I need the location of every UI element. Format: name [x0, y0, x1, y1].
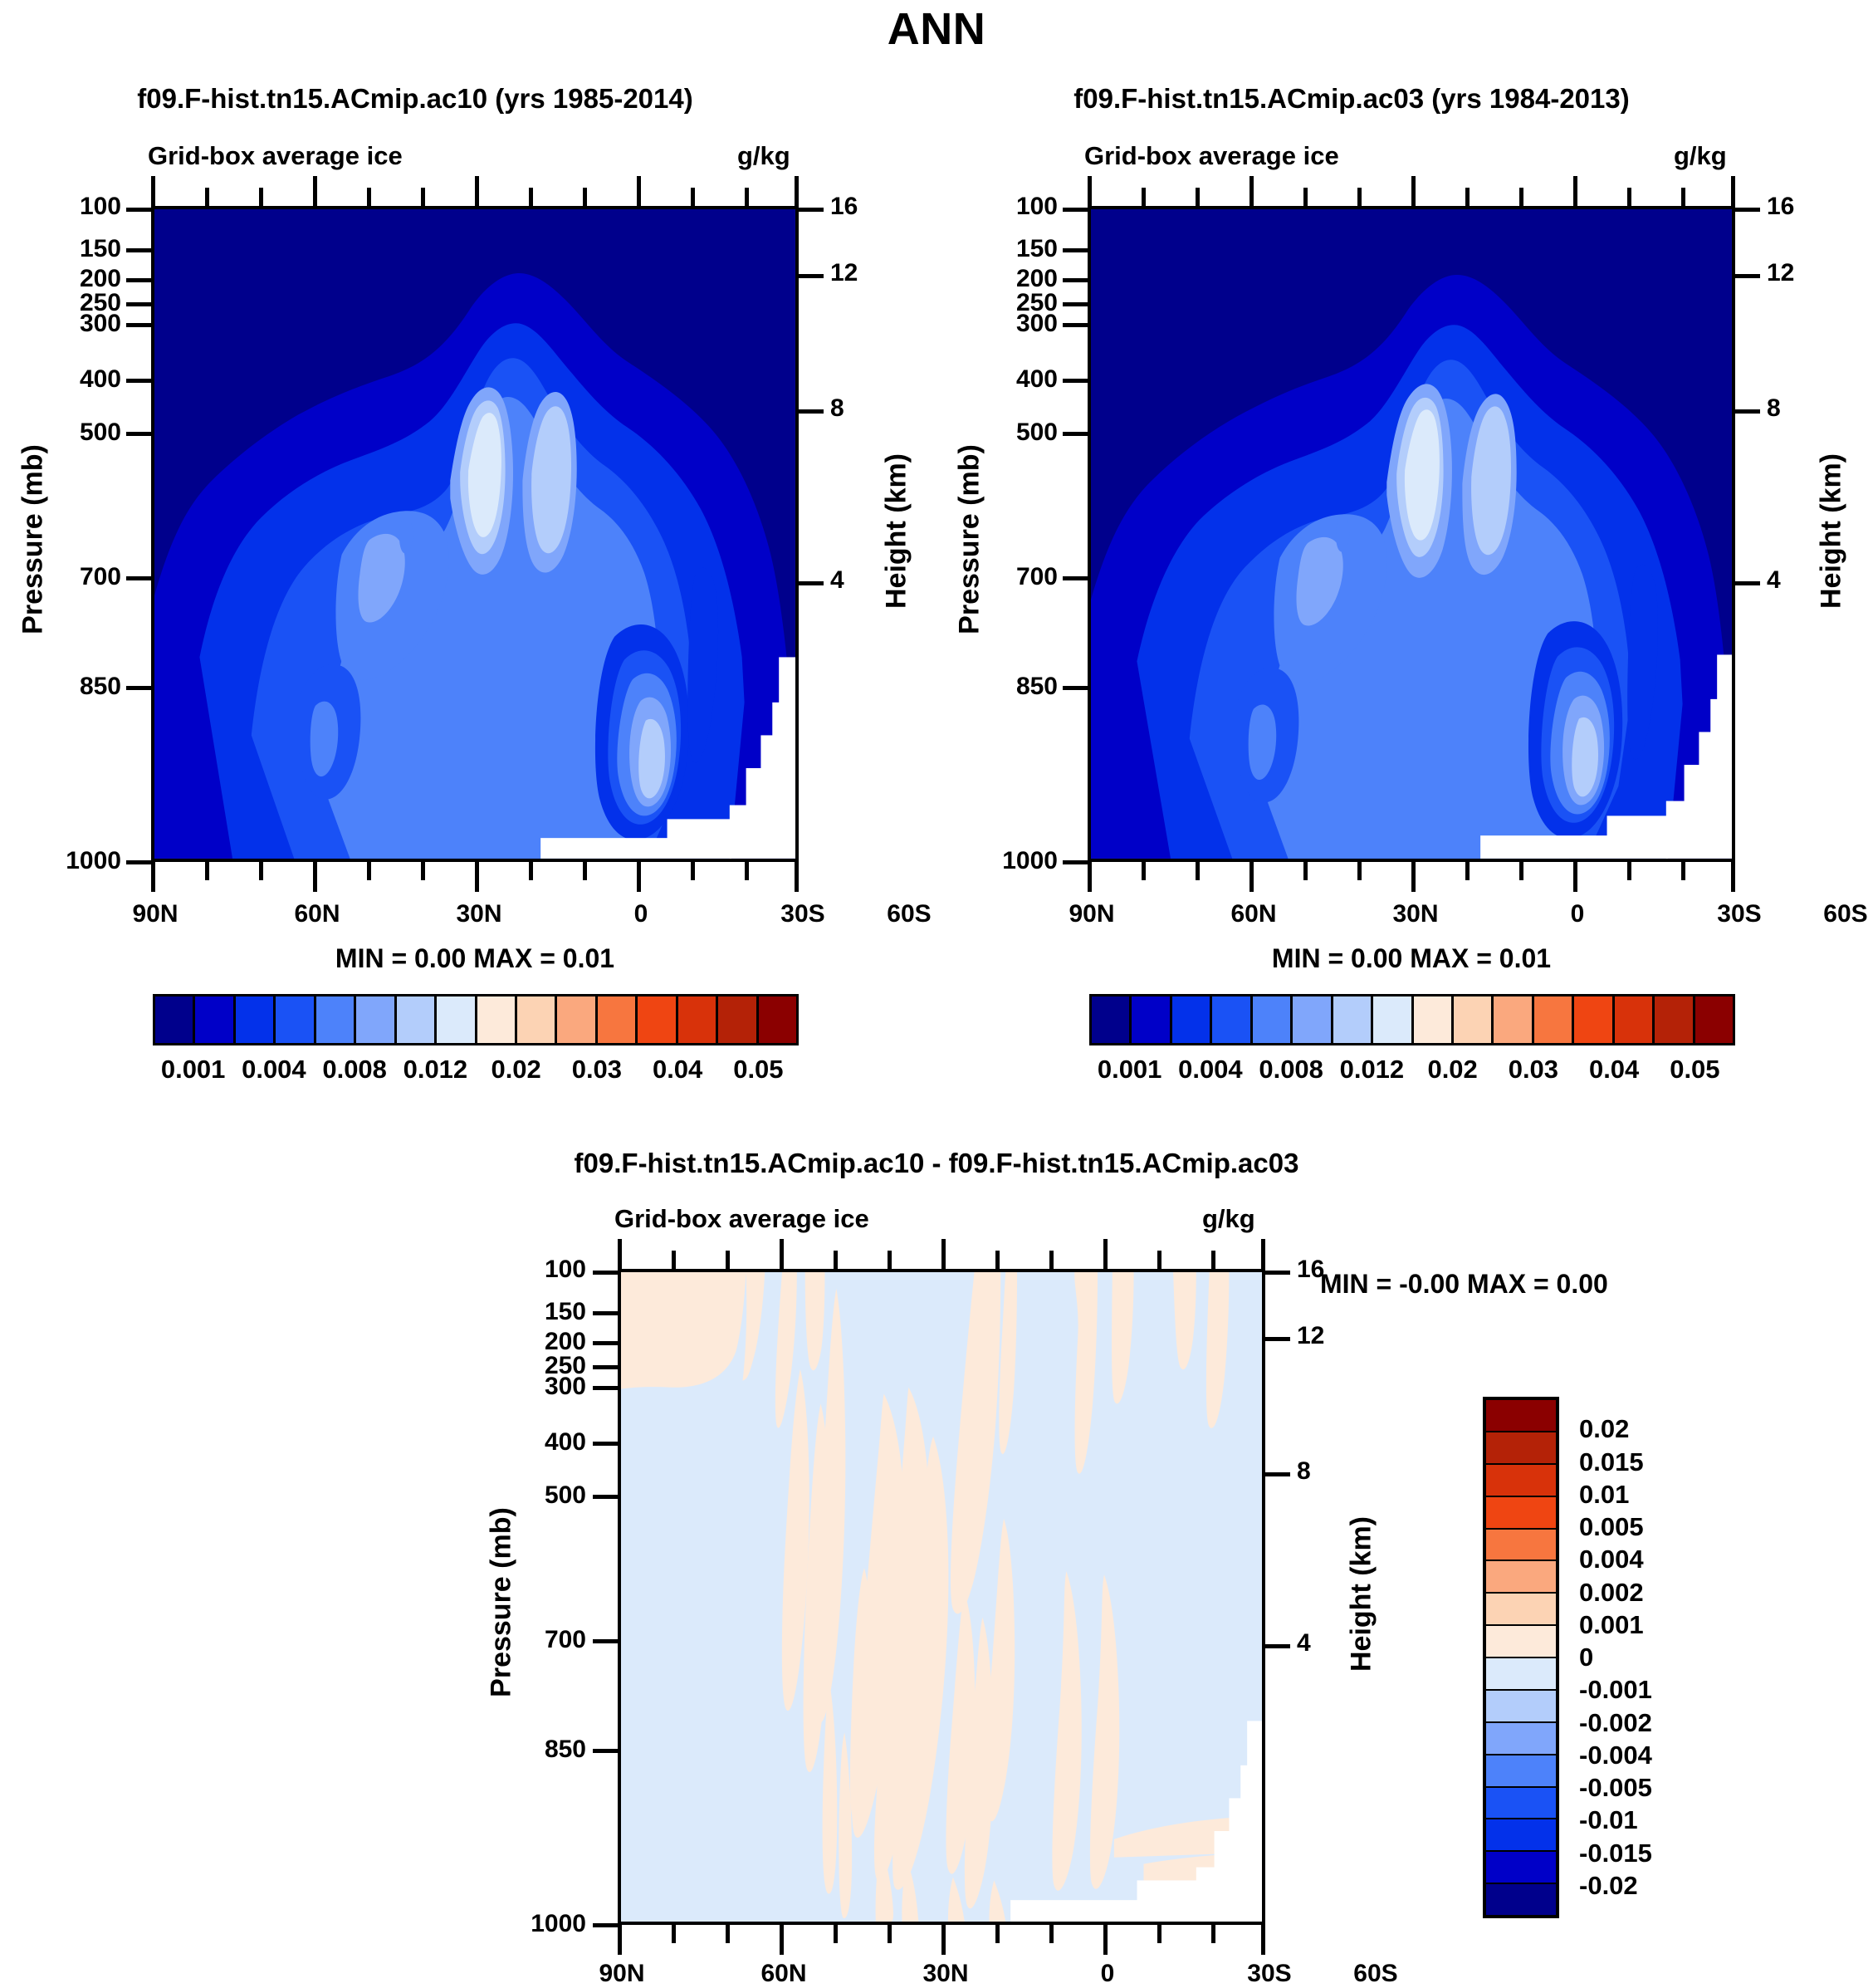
pressure-tick-label: 400	[465, 1428, 586, 1457]
colorbar-cell	[1486, 1884, 1556, 1915]
colorbar-cell	[1534, 996, 1574, 1043]
colorbar-cell	[718, 996, 758, 1043]
colorbar-cell	[1486, 1852, 1556, 1884]
lat-tick-label: 60S	[1322, 1960, 1430, 1988]
pressure-tick-label: 1000	[465, 1910, 586, 1938]
colorbar-tick-label: -0.002	[1579, 1708, 1652, 1738]
plot-area-difference[interactable]	[618, 1269, 1265, 1925]
lat-tick-label: 30N	[425, 900, 533, 928]
colorbar-tick-label: -0.02	[1579, 1871, 1638, 1901]
colorbar-cell	[1454, 996, 1494, 1043]
colorbar-tick-label: 0.01	[1579, 1480, 1629, 1510]
colorbar-cell	[1486, 1723, 1556, 1755]
colorbar-cell	[236, 996, 276, 1043]
colorbar-tick-label: 0.008	[1259, 1055, 1323, 1085]
panel-title-difference: f09.F-hist.tn15.ACmip.ac10 - f09.F-hist.…	[0, 1148, 1873, 1179]
panel-subtitle-top-left: Grid-box average ice	[148, 141, 403, 171]
pressure-tick-label: 300	[936, 310, 1058, 338]
panel-units-top-right: g/kg	[1674, 141, 1727, 171]
colorbar-cell	[1212, 996, 1252, 1043]
colorbar-tick-label: 0.002	[1579, 1578, 1644, 1608]
colorbar-cell	[1615, 996, 1655, 1043]
lat-tick-label: 60N	[1200, 900, 1308, 928]
colorbar-cell	[1486, 1400, 1556, 1432]
colorbar-labels-difference: 0.020.0150.010.0050.0040.0020.0010-0.001…	[1579, 1397, 1770, 1918]
colorbar-cell	[759, 996, 796, 1043]
colorbar-tick-label: 0.04	[1589, 1055, 1639, 1085]
colorbar-cell	[1486, 1691, 1556, 1723]
colorbar-tick-label: 0.012	[1340, 1055, 1405, 1085]
pressure-tick-label: 850	[0, 673, 121, 701]
contour-plot-difference	[621, 1272, 1262, 1922]
colorbar-tick-label: 0.015	[1579, 1447, 1644, 1477]
pressure-tick-label: 100	[465, 1256, 586, 1284]
colorbar-tick-label: 0.004	[1579, 1545, 1644, 1574]
colorbar-tick-label: 0.012	[403, 1055, 468, 1085]
colorbar-cell	[1333, 996, 1373, 1043]
colorbar-tick-label: 0.04	[653, 1055, 702, 1085]
colorbar-tick-label: 0.001	[1579, 1610, 1644, 1640]
lat-tick-label: 90N	[101, 900, 209, 928]
colorbar-cell	[1092, 996, 1132, 1043]
colorbar-tick-label: 0.001	[161, 1055, 226, 1085]
lat-tick-label: 90N	[568, 1960, 676, 1988]
contour-plot-top-right	[1091, 209, 1732, 859]
pressure-tick-label: 150	[465, 1298, 586, 1326]
panel-units-difference: g/kg	[1202, 1204, 1255, 1234]
height-tick-label: 16	[830, 193, 897, 221]
colorbar-tick-label: 0.02	[1579, 1414, 1629, 1444]
colorbar-cell	[356, 996, 396, 1043]
colorbar-cell	[1486, 1658, 1556, 1691]
colorbar-cell	[517, 996, 557, 1043]
colorbar-tick-label: 0.05	[733, 1055, 783, 1085]
colorbar-tick-label: 0.02	[1427, 1055, 1477, 1085]
pressure-tick-label: 700	[465, 1626, 586, 1654]
colorbar-tick-label: 0.008	[322, 1055, 387, 1085]
pressure-tick-label: 150	[0, 235, 121, 263]
pressure-tick-label: 400	[936, 365, 1058, 394]
colorbar-difference[interactable]	[1483, 1397, 1559, 1918]
colorbar-cell	[598, 996, 638, 1043]
colorbar-tick-label: -0.001	[1579, 1675, 1652, 1705]
colorbar-cell	[1373, 996, 1413, 1043]
minmax-top-right: MIN = 0.00 MAX = 0.01	[1088, 943, 1735, 974]
panel-top-left: f09.F-hist.tn15.ACmip.ac10 (yrs 1985-201…	[0, 0, 936, 1104]
panel-top-right: f09.F-hist.tn15.ACmip.ac03 (yrs 1984-201…	[936, 0, 1873, 1104]
colorbar-top-left[interactable]	[153, 994, 799, 1045]
colorbar-tick-label: 0.03	[572, 1055, 622, 1085]
colorbar-tick-label: 0.001	[1098, 1055, 1162, 1085]
colorbar-cell	[397, 996, 437, 1043]
panel-subtitle-top-right: Grid-box average ice	[1084, 141, 1339, 171]
colorbar-cell	[1486, 1626, 1556, 1658]
colorbar-labels-top-right: 0.0010.0040.0080.0120.020.030.040.05	[1089, 1055, 1735, 1088]
lat-tick-label: 30S	[1685, 900, 1793, 928]
lat-tick-label: 90N	[1038, 900, 1146, 928]
panel-units-top-left: g/kg	[737, 141, 790, 171]
pressure-tick-label: 150	[936, 235, 1058, 263]
lat-tick-label: 30N	[1362, 900, 1470, 928]
colorbar-cell	[1293, 996, 1333, 1043]
lat-tick-label: 30S	[749, 900, 857, 928]
height-tick-label: 12	[830, 259, 897, 287]
colorbar-cell	[638, 996, 677, 1043]
axis-title-pressure-left: Pressure (mb)	[17, 440, 50, 639]
colorbar-cell	[316, 996, 356, 1043]
pressure-tick-label: 400	[0, 365, 121, 394]
height-tick-label: 8	[830, 394, 897, 423]
colorbar-cell	[276, 996, 315, 1043]
lat-tick-label: 0	[1054, 1960, 1161, 1988]
colorbar-cell	[1695, 996, 1733, 1043]
colorbar-cell	[155, 996, 195, 1043]
axis-title-height-right: Height (km)	[881, 432, 913, 631]
plot-area-top-right[interactable]	[1088, 206, 1735, 862]
colorbar-cell	[1574, 996, 1614, 1043]
colorbar-cell	[1655, 996, 1695, 1043]
lat-tick-label: 30N	[892, 1960, 1000, 1988]
axis-title-pressure-left: Pressure (mb)	[954, 440, 986, 639]
lat-tick-label: 0	[1523, 900, 1631, 928]
colorbar-cell	[195, 996, 235, 1043]
colorbar-cell	[1414, 996, 1454, 1043]
pressure-tick-label: 300	[465, 1373, 586, 1401]
panel-difference: f09.F-hist.tn15.ACmip.ac10 - f09.F-hist.…	[0, 1104, 1873, 1980]
colorbar-tick-label: 0.004	[1178, 1055, 1243, 1085]
contour-plot-top-left	[154, 209, 795, 859]
colorbar-labels-top-left: 0.0010.0040.0080.0120.020.030.040.05	[153, 1055, 799, 1088]
colorbar-tick-label: 0.02	[491, 1055, 540, 1085]
pressure-tick-label: 850	[465, 1736, 586, 1764]
colorbar-cell	[678, 996, 718, 1043]
colorbar-tick-label: 0	[1579, 1643, 1593, 1672]
colorbar-cell	[1494, 996, 1533, 1043]
lat-tick-label: 60S	[1792, 900, 1873, 928]
colorbar-tick-label: -0.015	[1579, 1839, 1652, 1868]
panel-subtitle-difference: Grid-box average ice	[614, 1204, 869, 1234]
colorbar-cell	[1486, 1432, 1556, 1465]
colorbar-tick-label: -0.01	[1579, 1805, 1638, 1835]
colorbar-top-right[interactable]	[1089, 994, 1735, 1045]
colorbar-cell	[1486, 1561, 1556, 1594]
colorbar-tick-label: -0.004	[1579, 1741, 1652, 1770]
colorbar-cell	[477, 996, 517, 1043]
colorbar-cell	[1486, 1465, 1556, 1497]
colorbar-cell	[1486, 1594, 1556, 1626]
colorbar-cell	[1486, 1530, 1556, 1562]
lat-tick-label: 30S	[1215, 1960, 1323, 1988]
height-tick-label: 12	[1297, 1322, 1363, 1350]
pressure-tick-label: 100	[936, 193, 1058, 221]
colorbar-cell	[437, 996, 477, 1043]
axis-title-height-right: Height (km)	[1816, 432, 1848, 631]
colorbar-tick-label: 0.05	[1670, 1055, 1719, 1085]
lat-tick-label: 60N	[730, 1960, 838, 1988]
lat-tick-label: 0	[587, 900, 695, 928]
colorbar-tick-label: 0.004	[242, 1055, 306, 1085]
pressure-tick-label: 1000	[0, 847, 121, 875]
colorbar-cell	[557, 996, 597, 1043]
colorbar-tick-label: 0.03	[1509, 1055, 1558, 1085]
lat-tick-label: 60N	[263, 900, 371, 928]
colorbar-cell	[1486, 1755, 1556, 1788]
colorbar-tick-label: -0.005	[1579, 1773, 1652, 1803]
colorbar-tick-label: 0.005	[1579, 1512, 1644, 1542]
plot-area-top-left[interactable]	[151, 206, 799, 862]
colorbar-cell	[1132, 996, 1171, 1043]
colorbar-cell	[1486, 1788, 1556, 1820]
pressure-tick-label: 500	[465, 1481, 586, 1510]
colorbar-cell	[1486, 1819, 1556, 1852]
minmax-top-left: MIN = 0.00 MAX = 0.01	[151, 943, 799, 974]
pressure-tick-label: 1000	[936, 847, 1058, 875]
height-tick-label: 12	[1767, 259, 1833, 287]
colorbar-cell	[1172, 996, 1212, 1043]
pressure-tick-label: 100	[0, 193, 121, 221]
height-tick-label: 8	[1767, 394, 1833, 423]
axis-title-pressure-difference: Pressure (mb)	[486, 1503, 518, 1702]
colorbar-cell	[1253, 996, 1293, 1043]
pressure-tick-label: 300	[0, 310, 121, 338]
height-tick-label: 8	[1297, 1457, 1363, 1486]
pressure-tick-label: 850	[936, 673, 1058, 701]
height-tick-label: 16	[1767, 193, 1833, 221]
minmax-difference: MIN = -0.00 MAX = 0.00	[1320, 1269, 1608, 1300]
colorbar-cell	[1486, 1497, 1556, 1530]
axis-title-height-difference: Height (km)	[1346, 1495, 1378, 1694]
